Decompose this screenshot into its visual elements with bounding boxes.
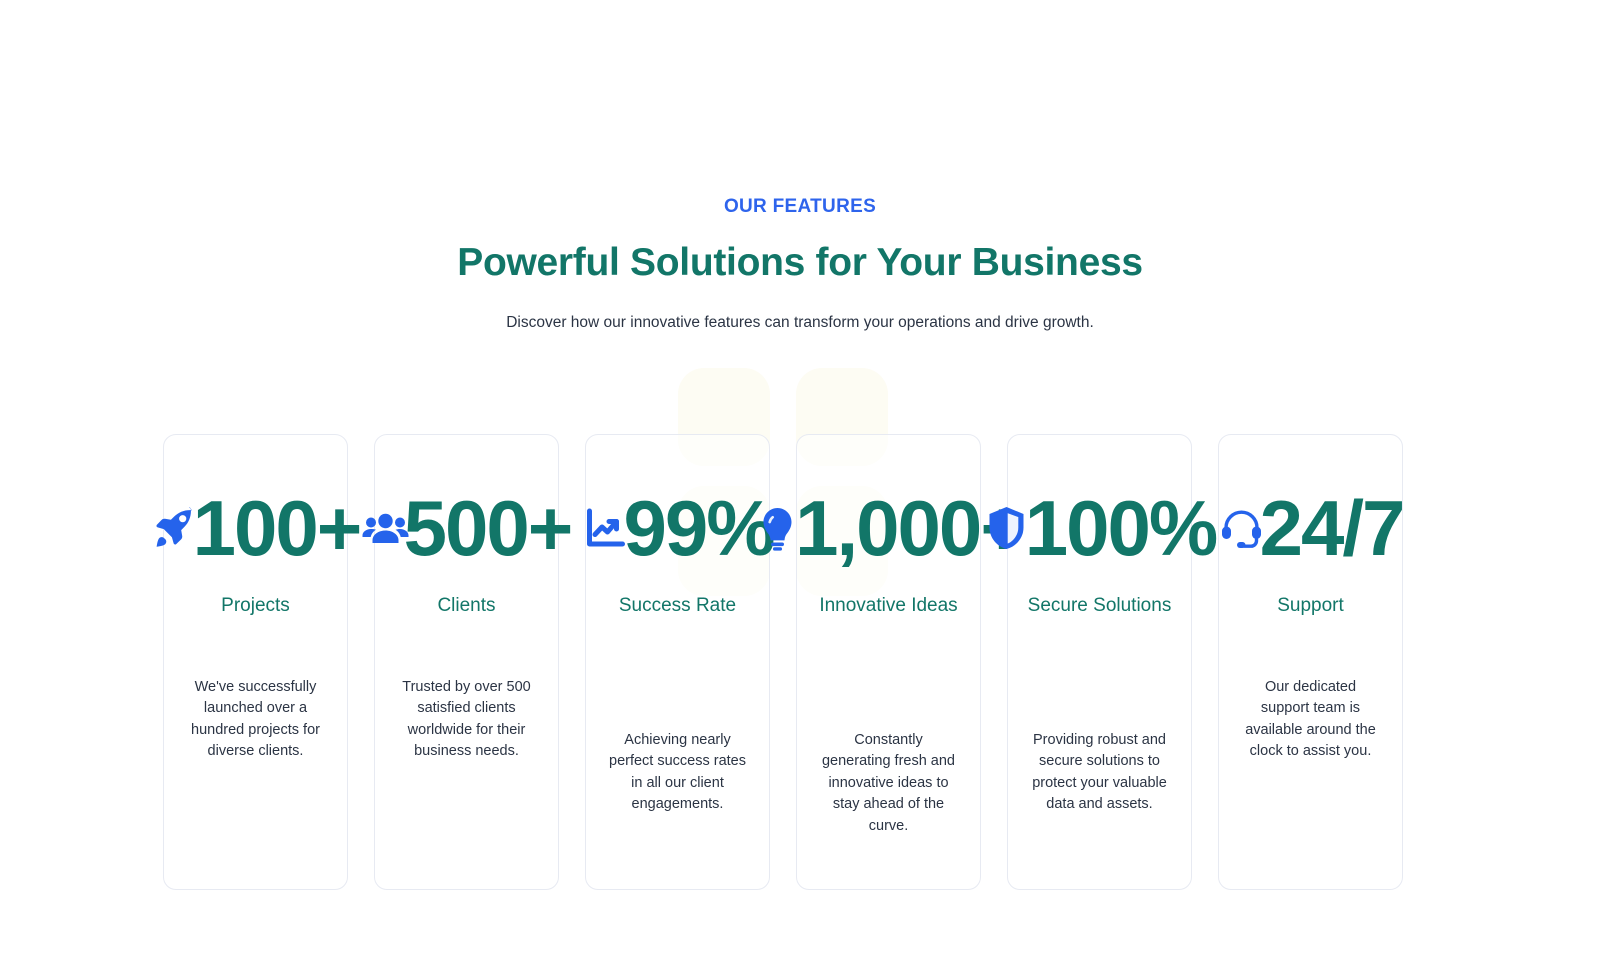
stat-value: 100+ [193,489,361,567]
stat-description: Achieving nearly perfect success rates i… [586,730,769,816]
stat-card-support[interactable]: 24/7 Support Our dedicated support team … [1218,434,1403,890]
stat-value: 24/7 [1260,489,1404,567]
stat-description: We've successfully launched over a hundr… [164,677,347,763]
rocket-icon [151,504,199,552]
headset-support-icon [1218,504,1266,552]
stat-headline-cluster: 500+ [374,489,559,567]
stat-cards-row: 100+ Projects We've successfully launche… [163,434,1405,890]
stat-value: 100% [1025,489,1217,567]
stat-description: Our dedicated support team is available … [1219,677,1402,763]
stat-description: Providing robust and secure solutions to… [1008,730,1191,816]
stat-value: 500+ [404,489,572,567]
section-subtitle: Discover how our innovative features can… [0,312,1600,334]
stat-description: Constantly generating fresh and innovati… [797,730,980,837]
stat-label: Support [1219,581,1402,631]
stat-card-success-rate[interactable]: 99% Success Rate Achieving nearly perfec… [585,434,770,890]
stat-card-secure-solutions[interactable]: 100% Secure Solutions Providing robust a… [1007,434,1192,890]
stat-headline-cluster: 24/7 [1218,489,1403,567]
stat-label: Success Rate [586,581,769,631]
page-title: Powerful Solutions for Your Business [0,239,1600,288]
stat-label: Secure Solutions [1008,581,1191,631]
chart-line-up-icon [581,504,629,552]
stat-value: 99% [623,489,773,567]
section-eyebrow: OUR FEATURES [0,196,1600,219]
stat-headline-cluster: 100% [1007,489,1192,567]
stat-card-clients[interactable]: 500+ Clients Trusted by over 500 satisfi… [374,434,559,890]
stat-label: Projects [164,581,347,631]
stat-headline-cluster: 100+ [163,489,348,567]
stat-headline-cluster: 1,000+ [796,489,981,567]
stat-card-innovative-ideas[interactable]: 1,000+ Innovative Ideas Constantly gener… [796,434,981,890]
stat-label: Innovative Ideas [797,581,980,631]
shield-icon [983,504,1031,552]
stat-headline-cluster: 99% [585,489,770,567]
users-group-icon [362,504,410,552]
stat-description: Trusted by over 500 satisfied clients wo… [375,677,558,763]
stat-label: Clients [375,581,558,631]
section-header: OUR FEATURES Powerful Solutions for Your… [0,0,1600,334]
stat-card-projects[interactable]: 100+ Projects We've successfully launche… [163,434,348,890]
stat-value: 1,000+ [795,489,1024,567]
